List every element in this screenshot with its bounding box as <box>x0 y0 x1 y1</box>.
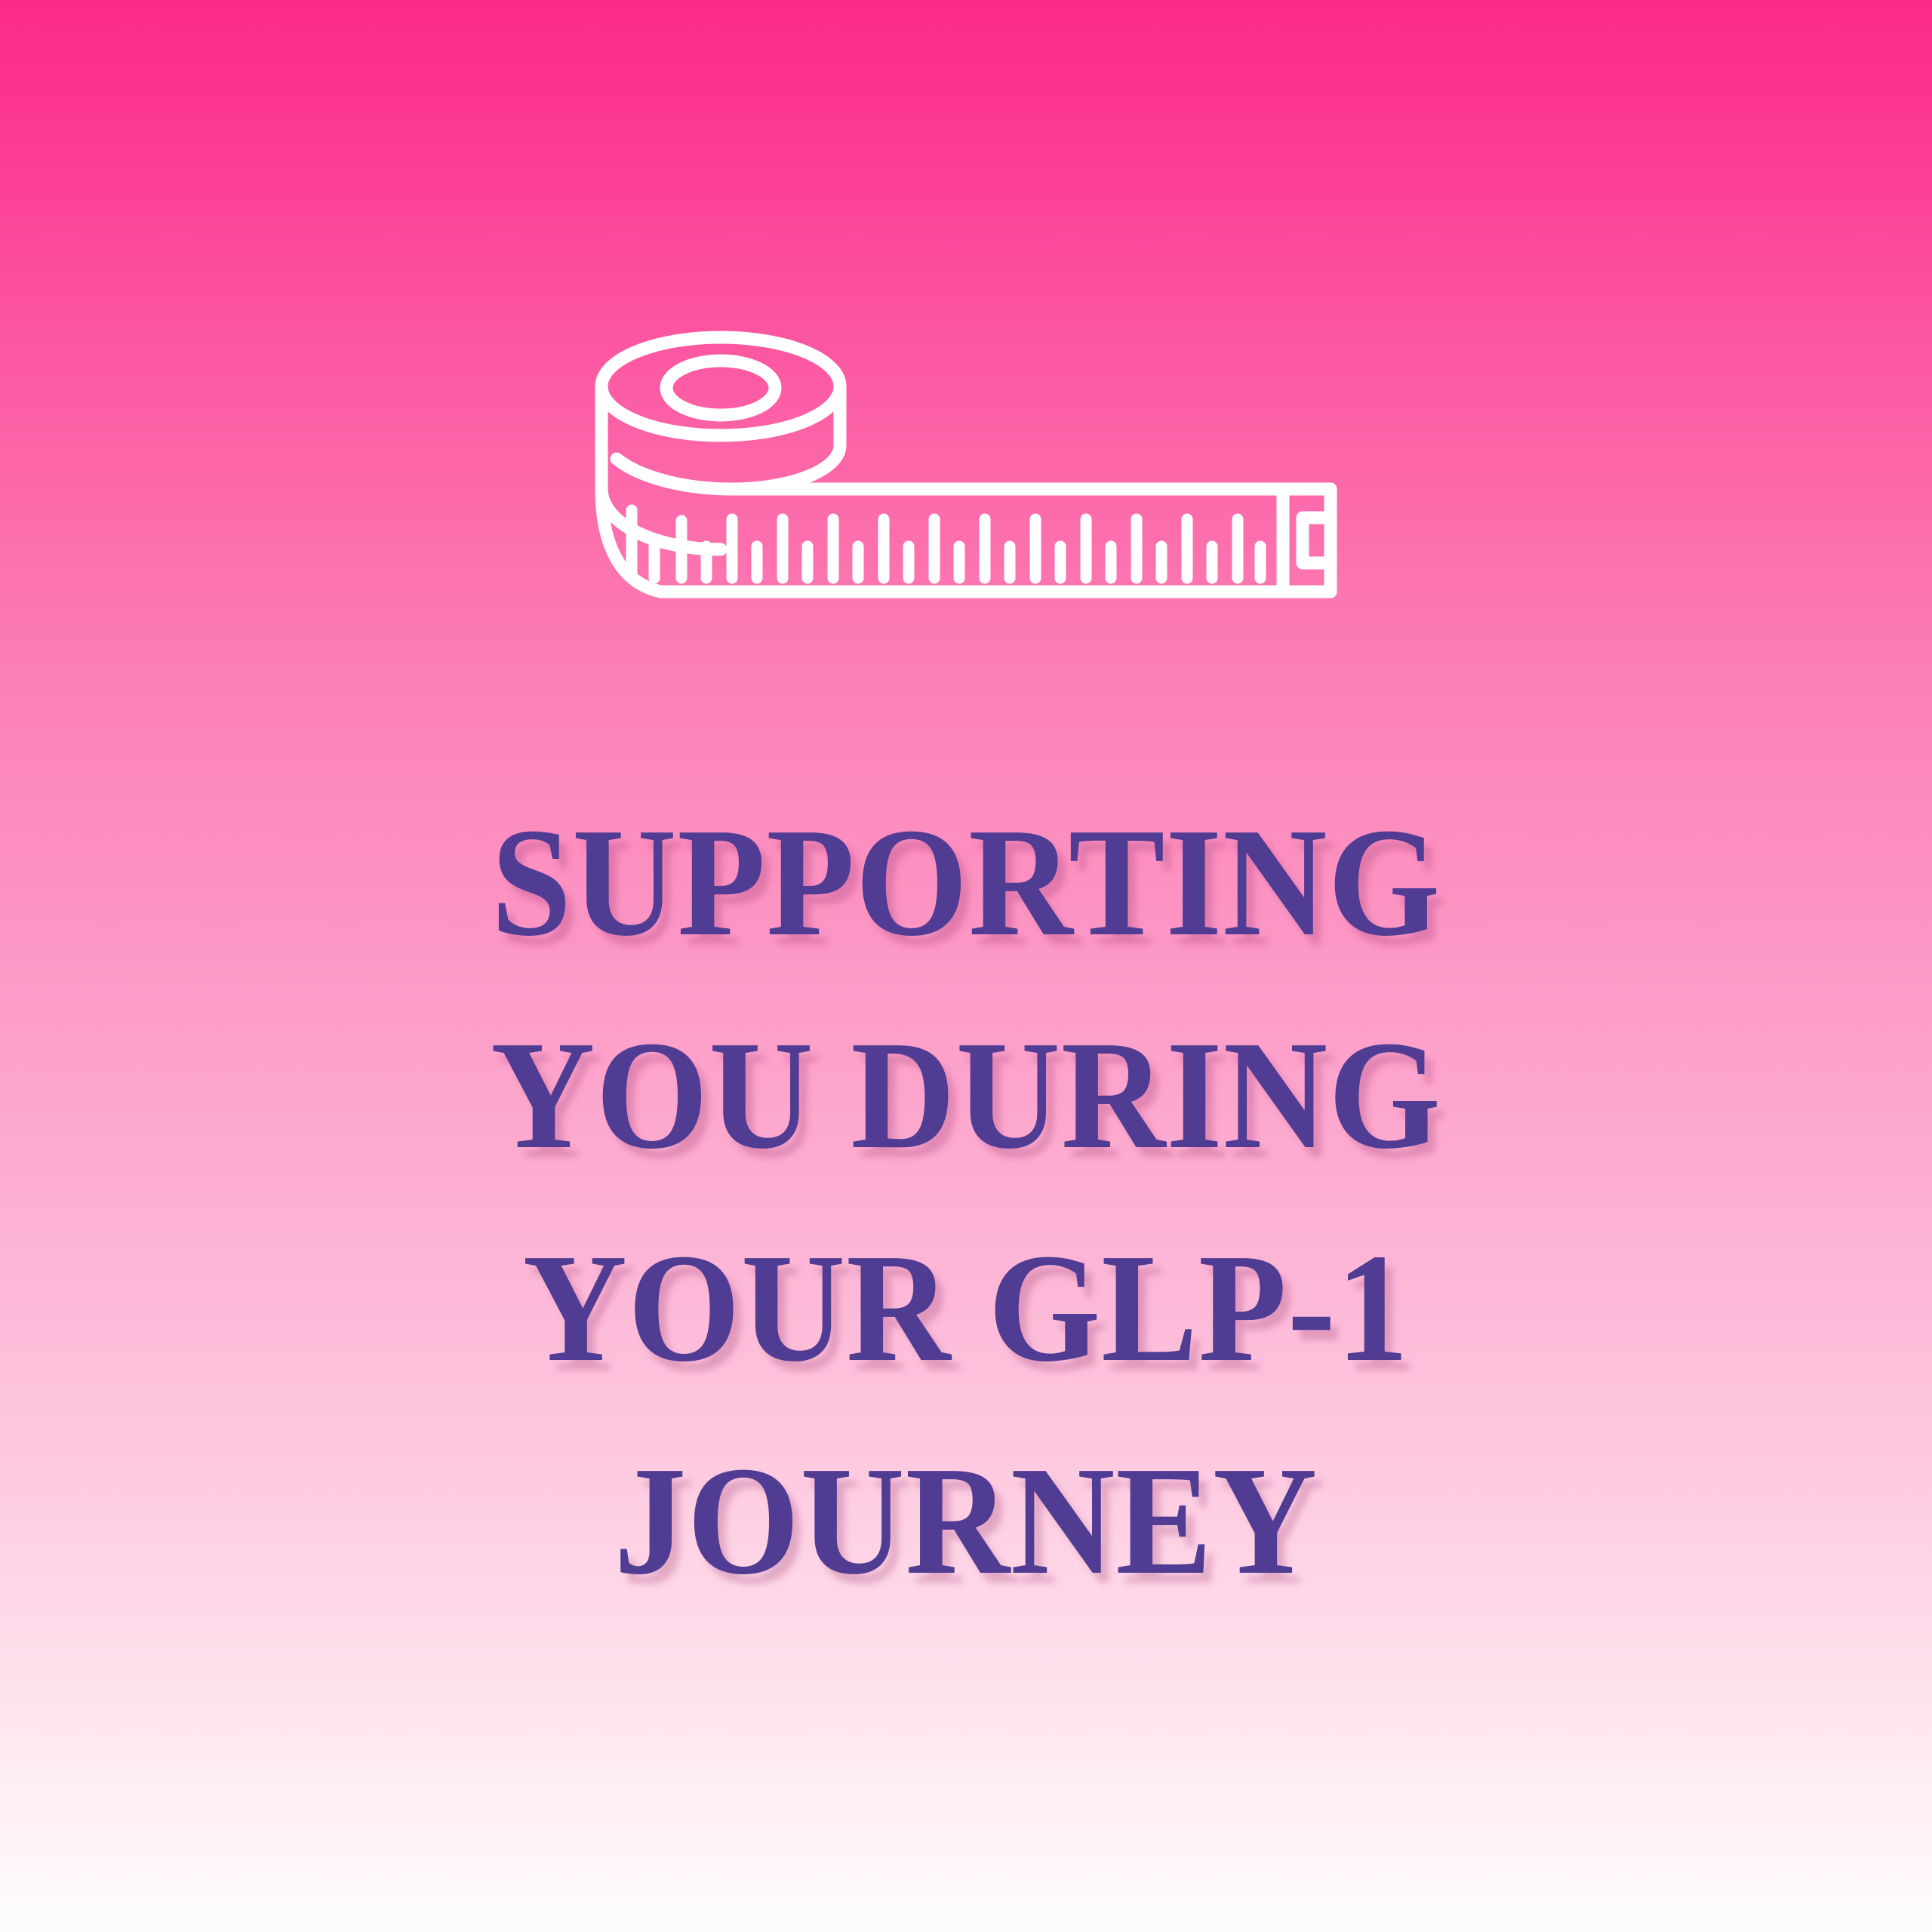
headline-line-4: JOURNEY <box>187 1414 1746 1627</box>
headline-line-3: YOUR GLP-1 <box>187 1201 1746 1414</box>
headline-line-2: YOU DURING <box>187 989 1746 1201</box>
tape-roll-inner-ellipse <box>666 361 775 415</box>
poster-canvas: SUPPORTING YOU DURING YOUR GLP-1 JOURNEY <box>0 0 1932 1932</box>
headline-block: SUPPORTING YOU DURING YOUR GLP-1 JOURNEY <box>0 776 1932 1627</box>
tape-tick-marks <box>632 510 1260 578</box>
tape-roll-bottom-curve <box>617 445 840 489</box>
headline-line-1: SUPPORTING <box>187 776 1746 989</box>
icon-container <box>0 326 1932 628</box>
measuring-tape-icon <box>570 326 1362 628</box>
